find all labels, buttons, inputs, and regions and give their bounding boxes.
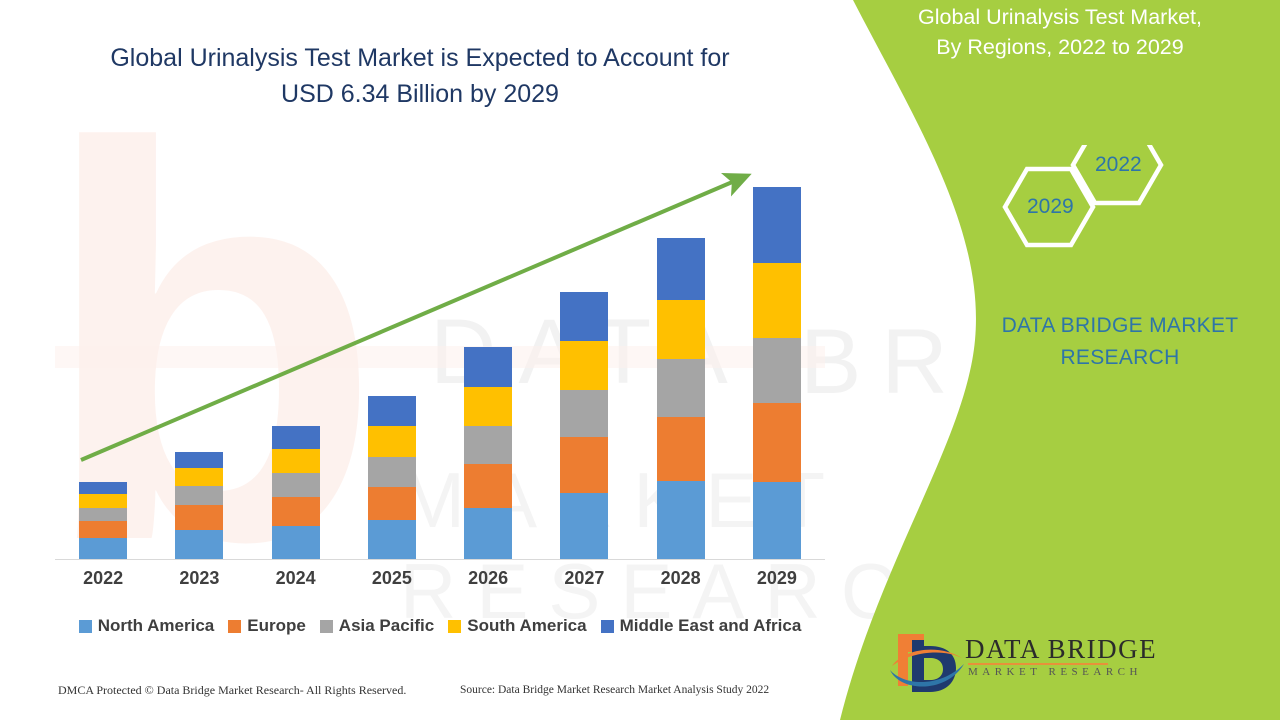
bar-segment-2028-s0[interactable] <box>657 481 705 559</box>
bar-segment-2028-s1[interactable] <box>657 417 705 481</box>
bar-segment-2024-s2[interactable] <box>272 473 320 497</box>
bar-segment-2029-s1[interactable] <box>753 403 801 482</box>
bar-segment-2024-s1[interactable] <box>272 497 320 526</box>
page-title-line-1: Global Urinalysis Test Market is Expecte… <box>60 40 780 76</box>
bar-segment-2022-s0[interactable] <box>79 538 127 559</box>
bar-2027[interactable] <box>560 292 608 559</box>
logo-divider-rule <box>968 663 1108 665</box>
chart-bars <box>55 151 825 559</box>
legend-swatch-icon-3 <box>448 620 461 633</box>
legend-swatch-icon-0 <box>79 620 92 633</box>
legend-label-1: Europe <box>247 616 306 636</box>
bar-segment-2022-s4[interactable] <box>79 482 127 494</box>
bar-segment-2025-s4[interactable] <box>368 396 416 426</box>
logo-secondary-text: MARKET RESEARCH <box>968 666 1142 678</box>
page-title: Global Urinalysis Test Market is Expecte… <box>60 40 780 112</box>
legend-swatch-icon-2 <box>320 620 333 633</box>
bar-segment-2029-s4[interactable] <box>753 187 801 263</box>
panel-title: Global Urinalysis Test Market, By Region… <box>840 2 1280 62</box>
bar-2022[interactable] <box>79 482 127 559</box>
legend-item-3[interactable]: South America <box>448 616 586 636</box>
bar-segment-2022-s3[interactable] <box>79 494 127 508</box>
bar-segment-2025-s3[interactable] <box>368 426 416 457</box>
legend-item-0[interactable]: North America <box>79 616 215 636</box>
bar-segment-2024-s3[interactable] <box>272 449 320 473</box>
bar-segment-2023-s4[interactable] <box>175 452 223 468</box>
x-axis-label-2023: 2023 <box>175 568 223 589</box>
bar-segment-2026-s3[interactable] <box>464 387 512 426</box>
data-bridge-logo: DATA BRIDGE MARKET RESEARCH <box>890 628 1190 698</box>
bar-segment-2027-s3[interactable] <box>560 341 608 390</box>
bar-segment-2028-s4[interactable] <box>657 238 705 300</box>
bar-segment-2024-s0[interactable] <box>272 526 320 559</box>
panel-brand-name: DATA BRIDGE MARKET RESEARCH <box>960 310 1280 374</box>
hexagon-2029-label: 2029 <box>1027 195 1071 219</box>
bar-2026[interactable] <box>464 347 512 559</box>
bar-segment-2022-s1[interactable] <box>79 521 127 538</box>
panel-title-line-1: Global Urinalysis Test Market, <box>840 2 1280 32</box>
bar-segment-2023-s1[interactable] <box>175 505 223 530</box>
panel-brand-line-2: RESEARCH <box>960 342 1280 374</box>
stacked-bar-chart <box>55 150 825 560</box>
legend-label-0: North America <box>98 616 215 636</box>
bar-segment-2022-s2[interactable] <box>79 508 127 521</box>
legend-swatch-icon-1 <box>228 620 241 633</box>
bar-2025[interactable] <box>368 396 416 559</box>
legend-label-4: Middle East and Africa <box>620 616 802 636</box>
bar-segment-2026-s1[interactable] <box>464 464 512 508</box>
x-axis-labels: 20222023202420252026202720282029 <box>55 568 825 589</box>
bar-segment-2029-s3[interactable] <box>753 263 801 338</box>
bar-segment-2023-s2[interactable] <box>175 486 223 505</box>
hexagon-2022-label: 2022 <box>1095 153 1139 177</box>
bar-2024[interactable] <box>272 426 320 559</box>
legend-label-2: Asia Pacific <box>339 616 434 636</box>
bar-segment-2026-s2[interactable] <box>464 426 512 464</box>
bar-segment-2025-s2[interactable] <box>368 457 416 487</box>
bar-segment-2029-s2[interactable] <box>753 338 801 403</box>
bar-segment-2025-s1[interactable] <box>368 487 416 520</box>
bar-segment-2026-s4[interactable] <box>464 347 512 387</box>
hexagon-group: 2029 2022 <box>975 145 1185 275</box>
legend-swatch-icon-4 <box>601 620 614 633</box>
logo-primary-text: DATA BRIDGE <box>965 634 1157 665</box>
bar-segment-2023-s3[interactable] <box>175 468 223 486</box>
bar-segment-2025-s0[interactable] <box>368 520 416 559</box>
chart-legend: North AmericaEuropeAsia PacificSouth Ame… <box>55 616 825 636</box>
bar-segment-2027-s1[interactable] <box>560 437 608 493</box>
bar-segment-2027-s0[interactable] <box>560 493 608 559</box>
source-note: Source: Data Bridge Market Research Mark… <box>460 684 769 696</box>
bar-segment-2027-s2[interactable] <box>560 390 608 437</box>
panel-title-line-2: By Regions, 2022 to 2029 <box>840 32 1280 62</box>
bar-segment-2029-s0[interactable] <box>753 482 801 559</box>
legend-label-3: South America <box>467 616 586 636</box>
infographic-canvas: b DATA BRIDGE MARKET RESEARCH Global Uri… <box>0 0 1280 720</box>
bar-segment-2023-s0[interactable] <box>175 530 223 559</box>
panel-brand-line-1: DATA BRIDGE MARKET <box>960 310 1280 342</box>
bar-segment-2028-s2[interactable] <box>657 359 705 417</box>
legend-item-1[interactable]: Europe <box>228 616 306 636</box>
copyright-notice: DMCA Protected © Data Bridge Market Rese… <box>58 683 406 698</box>
x-axis-label-2029: 2029 <box>753 568 801 589</box>
bar-segment-2026-s0[interactable] <box>464 508 512 559</box>
x-axis-label-2027: 2027 <box>560 568 608 589</box>
x-axis-label-2028: 2028 <box>657 568 705 589</box>
x-axis-label-2026: 2026 <box>464 568 512 589</box>
bar-2029[interactable] <box>753 187 801 559</box>
page-title-line-2: USD 6.34 Billion by 2029 <box>60 76 780 112</box>
legend-item-2[interactable]: Asia Pacific <box>320 616 434 636</box>
x-axis-label-2022: 2022 <box>79 568 127 589</box>
legend-item-4[interactable]: Middle East and Africa <box>601 616 802 636</box>
bar-segment-2027-s4[interactable] <box>560 292 608 341</box>
x-axis-label-2024: 2024 <box>272 568 320 589</box>
bar-segment-2024-s4[interactable] <box>272 426 320 449</box>
logo-b-mark-icon <box>890 630 970 696</box>
bar-2028[interactable] <box>657 238 705 559</box>
bar-segment-2028-s3[interactable] <box>657 300 705 359</box>
bar-2023[interactable] <box>175 452 223 559</box>
hexagon-shapes <box>975 145 1185 275</box>
x-axis-label-2025: 2025 <box>368 568 416 589</box>
x-axis-line <box>55 559 825 560</box>
